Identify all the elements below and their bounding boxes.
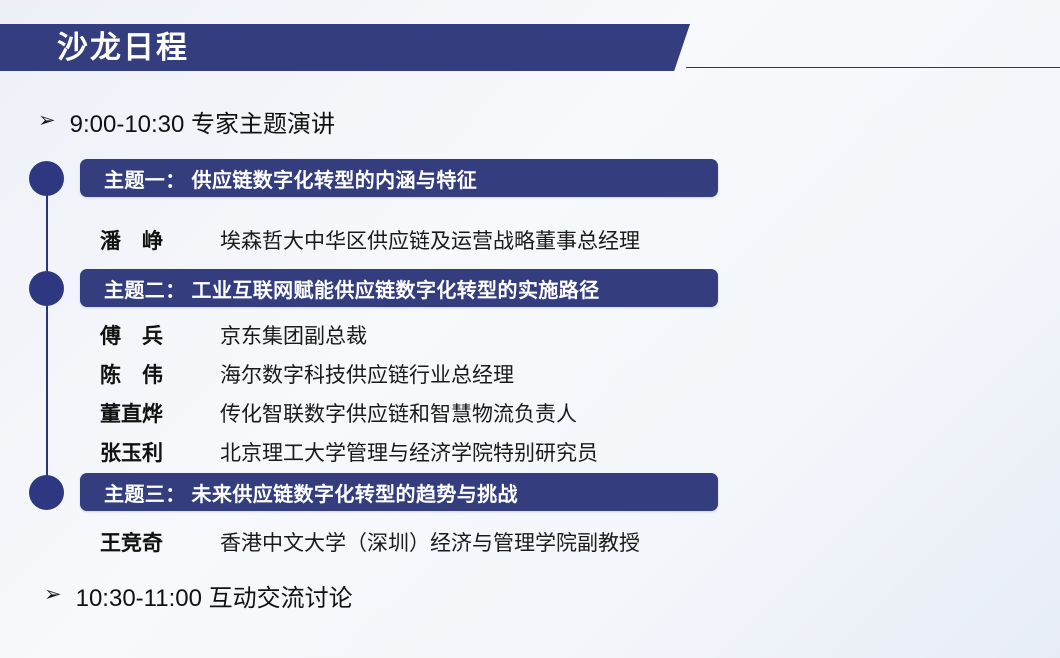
page-title: 沙龙日程 <box>57 24 189 71</box>
timeline-dot-icon <box>29 161 64 196</box>
session-row-2: ➢ 10:30-11:00 互动交流讨论 <box>44 578 353 613</box>
speaker-title: 海尔数字科技供应链行业总经理 <box>220 359 514 389</box>
speaker-title: 埃森哲大中华区供应链及运营战略董事总经理 <box>220 225 640 255</box>
speaker-name: 傅 兵 <box>100 320 220 350</box>
speaker-row: 张玉利 北京理工大学管理与经济学院特别研究员 <box>100 437 598 467</box>
timeline-dot-icon <box>29 475 64 510</box>
arrow-bullet-icon: ➢ <box>44 584 62 605</box>
speaker-row: 王竞奇 香港中文大学（深圳）经济与管理学院副教授 <box>100 527 640 557</box>
timeline-dot-icon <box>29 271 64 306</box>
topic-label-1: 主题一： 供应链数字化转型的内涵与特征 <box>80 164 477 193</box>
speaker-name: 陈 伟 <box>100 359 220 389</box>
speaker-name: 张玉利 <box>100 437 220 467</box>
arrow-bullet-icon: ➢ <box>38 110 56 131</box>
topic-bar-3: 主题三： 未来供应链数字化转型的趋势与挑战 <box>80 473 718 511</box>
speaker-title: 香港中文大学（深圳）经济与管理学院副教授 <box>220 527 640 557</box>
topic-bar-1: 主题一： 供应链数字化转型的内涵与特征 <box>80 159 718 197</box>
session-row-1: ➢ 9:00-10:30 专家主题演讲 <box>38 104 335 139</box>
speaker-name: 王竞奇 <box>100 527 220 557</box>
speaker-row: 潘 峥 埃森哲大中华区供应链及运营战略董事总经理 <box>100 225 640 255</box>
timeline-connector <box>46 190 48 492</box>
header-divider <box>686 67 1060 68</box>
speaker-name: 董直烨 <box>100 398 220 428</box>
speaker-row: 董直烨 传化智联数字供应链和智慧物流负责人 <box>100 398 577 428</box>
topic-label-2: 主题二： 工业互联网赋能供应链数字化转型的实施路径 <box>80 274 600 303</box>
session-label-1: 9:00-10:30 专家主题演讲 <box>70 104 335 139</box>
speaker-title: 京东集团副总裁 <box>220 320 367 350</box>
topic-bar-2: 主题二： 工业互联网赋能供应链数字化转型的实施路径 <box>80 269 718 307</box>
speaker-row: 傅 兵 京东集团副总裁 <box>100 320 367 350</box>
session-label-2: 10:30-11:00 互动交流讨论 <box>76 578 353 613</box>
slide-canvas: 沙龙日程 ➢ 9:00-10:30 专家主题演讲 主题一： 供应链数字化转型的内… <box>0 0 1060 658</box>
speaker-row: 陈 伟 海尔数字科技供应链行业总经理 <box>100 359 514 389</box>
topic-label-3: 主题三： 未来供应链数字化转型的趋势与挑战 <box>80 478 518 507</box>
speaker-title: 北京理工大学管理与经济学院特别研究员 <box>220 437 598 467</box>
speaker-title: 传化智联数字供应链和智慧物流负责人 <box>220 398 577 428</box>
speaker-name: 潘 峥 <box>100 225 220 255</box>
